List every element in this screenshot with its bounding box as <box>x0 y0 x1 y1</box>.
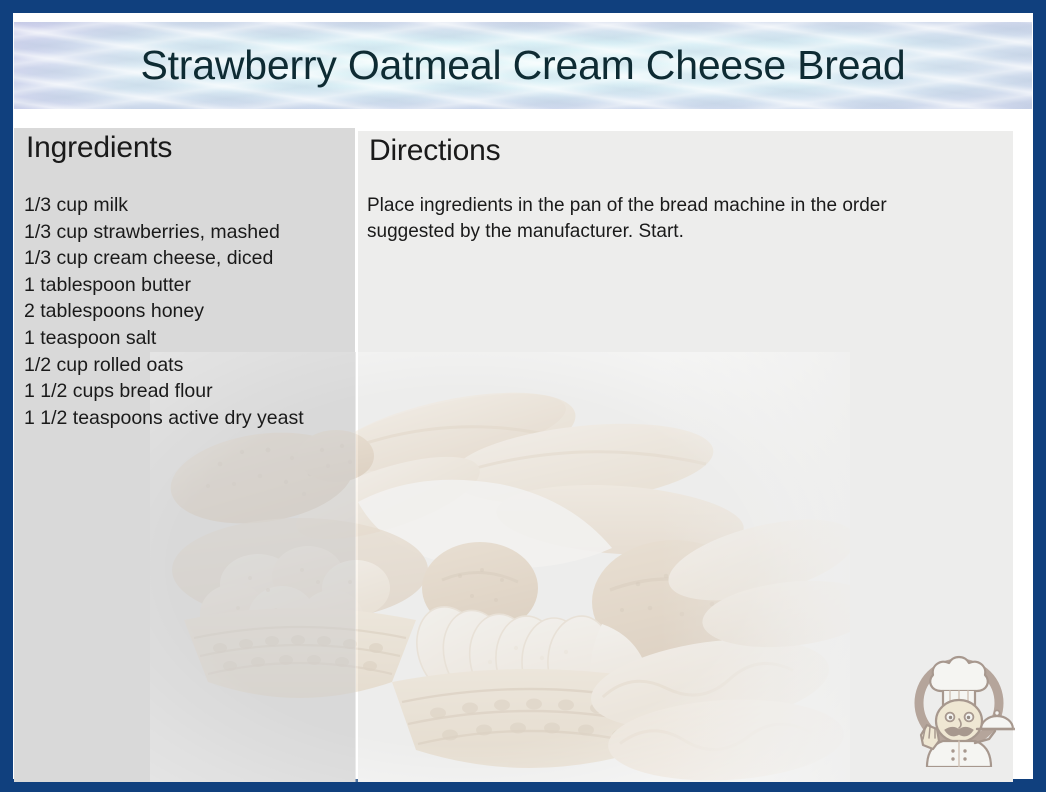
ingredient-item: 1/3 cup milk <box>24 192 344 219</box>
directions-text: Place ingredients in the pan of the brea… <box>367 193 967 245</box>
ingredient-item: 1/2 cup rolled oats <box>24 352 344 379</box>
ingredient-item: 1/3 cup cream cheese, diced <box>24 245 344 272</box>
ingredient-item: 1 1/2 cups bread flour <box>24 378 344 405</box>
recipe-slide: Strawberry Oatmeal Cream Cheese Bread <box>0 0 1046 792</box>
ingredient-item: 1 tablespoon butter <box>24 272 344 299</box>
directions-heading: Directions <box>369 134 500 168</box>
ingredients-list: 1/3 cup milk 1/3 cup strawberries, mashe… <box>24 192 344 431</box>
ingredient-item: 2 tablespoons honey <box>24 298 344 325</box>
ingredient-item: 1/3 cup strawberries, mashed <box>24 219 344 246</box>
recipe-title: Strawberry Oatmeal Cream Cheese Bread <box>14 22 1032 109</box>
ingredient-item: 1 1/2 teaspoons active dry yeast <box>24 405 344 432</box>
ingredient-item: 1 teaspoon salt <box>24 325 344 352</box>
ingredients-heading: Ingredients <box>26 131 172 165</box>
title-banner: Strawberry Oatmeal Cream Cheese Bread <box>14 22 1032 109</box>
